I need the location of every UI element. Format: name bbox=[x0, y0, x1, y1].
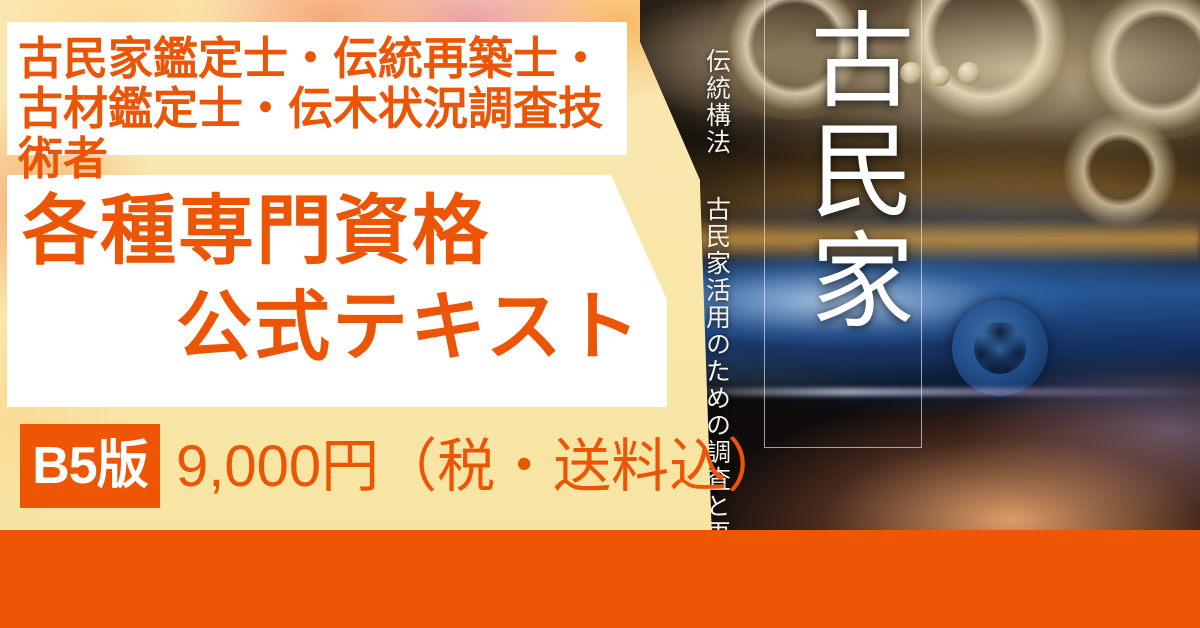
qualifications-text: 古民家鑑定士・伝統再築士・ 古材鑑定士・伝木状況調査技術者 bbox=[18, 34, 628, 184]
family-crest-medallion bbox=[952, 300, 1048, 396]
carving-swirl-icon bbox=[1060, 0, 1200, 140]
cta-bar[interactable]: 詳細・ご購入はこちら bbox=[0, 530, 1200, 628]
cover-title: 古民家 bbox=[772, 6, 914, 336]
blue-glaze-band bbox=[660, 255, 1200, 375]
product-title-line-1: 各種専門資格 bbox=[22, 190, 490, 274]
horizon-glow bbox=[660, 388, 1200, 396]
carving-swirl-icon bbox=[1045, 110, 1195, 230]
format-badge: B5版 bbox=[20, 424, 160, 508]
cover-subtitle-top: 伝統構法 bbox=[702, 48, 730, 156]
price-text: 9,000円（税・送料込） bbox=[176, 425, 785, 509]
carving-bead bbox=[958, 62, 980, 84]
promo-banner[interactable]: 古民家 伝統構法 古民家活用のための調査と再生の 古民家鑑定士・伝統再築士・ 古… bbox=[0, 0, 1200, 628]
product-title-line-2: 公式テキスト bbox=[176, 286, 642, 370]
carving-bead bbox=[930, 66, 950, 86]
